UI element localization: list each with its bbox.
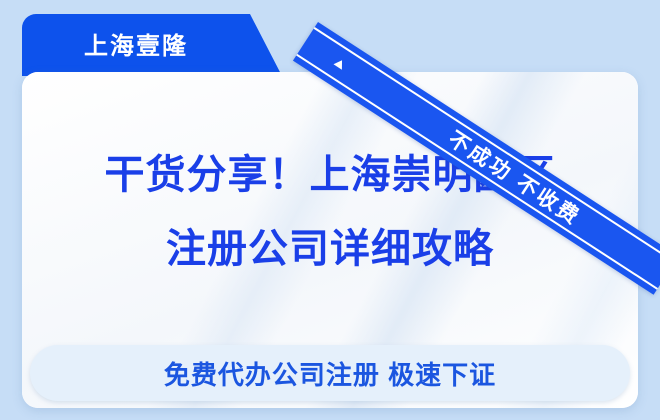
offer-pill-label: 免费代办公司注册 极速下证: [164, 355, 496, 392]
offer-pill: 免费代办公司注册 极速下证: [30, 345, 630, 401]
content-card: 干货分享！上海崇明园区 注册公司详细攻略 免费代办公司注册 极速下证: [22, 72, 638, 408]
brand-tab: 上海壹隆: [22, 14, 282, 76]
brand-tab-label: 上海壹隆: [22, 14, 250, 72]
promo-poster: 上海壹隆 干货分享！上海崇明园区 注册公司详细攻略 免费代办公司注册 极速下证 …: [0, 0, 660, 420]
